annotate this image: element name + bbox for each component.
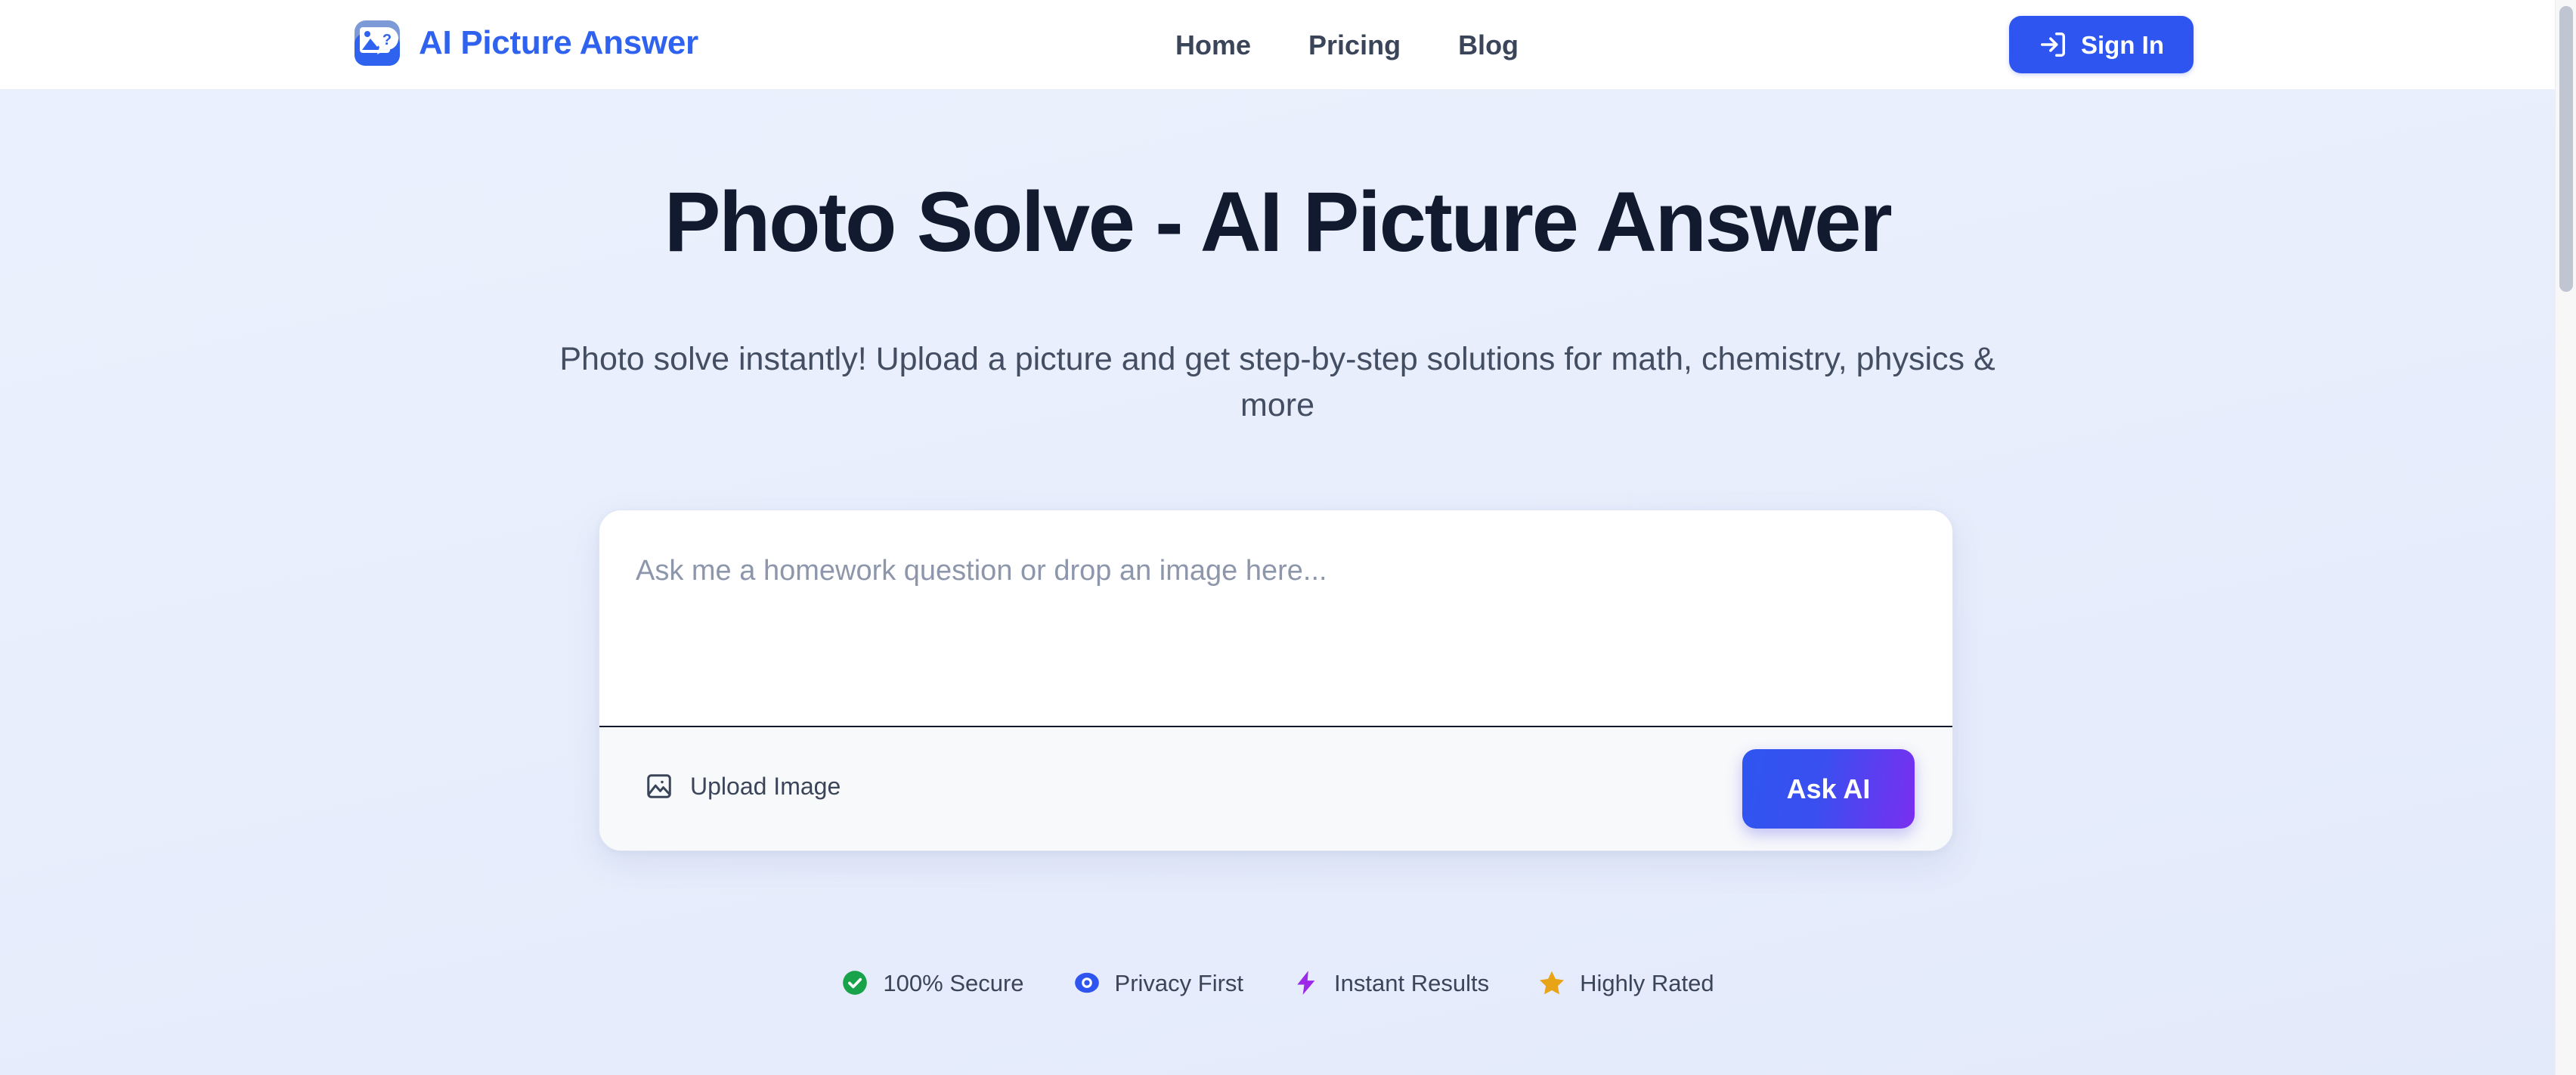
ask-input-area [599,510,1952,727]
upload-image-label: Upload Image [690,774,841,798]
trust-badge-label: Instant Results [1334,971,1489,995]
nav-link-home[interactable]: Home [1175,32,1251,59]
trust-badges-row: 100% Secure Privacy First [0,968,2555,997]
sign-in-label: Sign In [2081,33,2164,57]
trust-badge-label: Privacy First [1115,971,1244,995]
page-scrollbar-thumb[interactable] [2559,6,2573,292]
hero-subtitle: Photo solve instantly! Upload a picture … [522,336,2033,429]
main-nav: Home Pricing Blog [1175,0,1519,90]
star-icon [1537,968,1566,997]
nav-link-pricing[interactable]: Pricing [1308,32,1401,59]
ask-card-footer: Upload Image Ask AI [599,727,1952,850]
trust-badge-label: Highly Rated [1580,971,1714,995]
page-root: ? AI Picture Answer Home Pricing Blog Si… [0,0,2576,1075]
upload-image-button[interactable]: Upload Image [645,763,841,810]
trust-badge-rated: Highly Rated [1537,968,1714,997]
lightning-bolt-icon [1292,968,1321,997]
sign-in-button[interactable]: Sign In [2009,16,2194,73]
trust-badge-secure: 100% Secure [841,968,1023,997]
ask-card: Upload Image Ask AI [599,510,1953,851]
log-in-icon [2039,30,2067,59]
check-circle-icon [841,968,869,997]
image-icon [645,772,673,801]
eye-icon [1073,968,1101,997]
trust-badge-instant: Instant Results [1292,968,1489,997]
hero-section: Photo Solve - AI Picture Answer Photo so… [0,90,2555,1075]
question-input[interactable] [636,551,1906,710]
brand-logo-link[interactable]: ? AI Picture Answer [352,18,698,68]
trust-badge-label: 100% Secure [883,971,1023,995]
trust-badge-privacy: Privacy First [1073,968,1244,997]
nav-link-blog[interactable]: Blog [1458,32,1519,59]
page-title: Photo Solve - AI Picture Answer [0,177,2555,268]
brand-name: AI Picture Answer [419,26,698,60]
svg-text:?: ? [382,32,392,48]
site-header: ? AI Picture Answer Home Pricing Blog Si… [0,0,2555,90]
picture-question-logo-icon: ? [352,18,402,68]
page-scrollbar-track[interactable] [2555,0,2576,1075]
ask-ai-button[interactable]: Ask AI [1742,749,1915,829]
